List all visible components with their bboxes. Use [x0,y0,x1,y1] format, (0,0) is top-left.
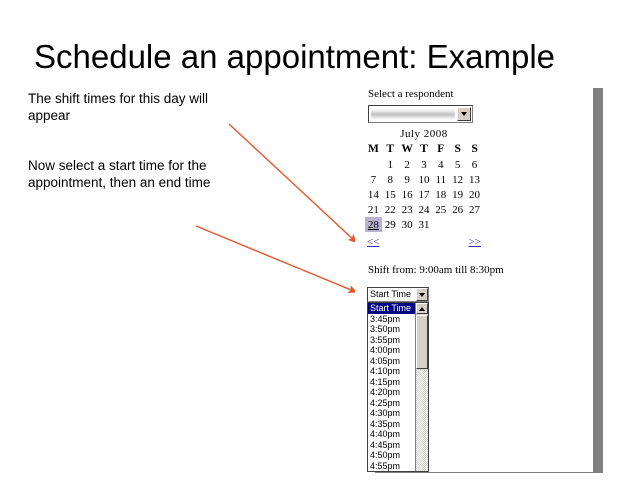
calendar-next-link[interactable]: >> [469,236,481,248]
list-item[interactable]: 4:35pm [368,419,415,430]
list-item[interactable]: 3:55pm [368,335,415,346]
calendar-week-row: 14 15 16 17 18 19 20 [365,187,483,202]
screenshot-shadow-right [593,88,603,473]
calendar-day[interactable]: 11 [432,172,449,187]
calendar-weekday: S [449,142,466,157]
respondent-select[interactable] [368,105,473,123]
listbox-scrollbar[interactable] [415,303,428,471]
calendar-week-row: 21 22 23 24 25 26 27 [365,202,483,217]
calendar-day[interactable]: 15 [382,187,399,202]
calendar-weekday: F [432,142,449,157]
calendar-day[interactable]: 27 [466,202,483,217]
calendar-day[interactable]: 25 [432,202,449,217]
calendar-day[interactable]: 8 [382,172,399,187]
page-title: Schedule an appointment: Example [34,38,614,76]
calendar-navigation: << >> [365,236,483,250]
calendar-day[interactable]: 4 [432,157,449,172]
calendar-weekday: T [416,142,433,157]
callout-shift-times: The shift times for this day will appear [28,90,243,124]
calendar-weekday: W [399,142,416,157]
calendar-day[interactable]: 26 [449,202,466,217]
list-item[interactable]: 4:45pm [368,440,415,451]
calendar-weekday: M [365,142,382,157]
start-time-options[interactable]: Start Time 3:45pm 3:50pm 3:55pm 4:00pm 4… [368,303,415,471]
list-item[interactable]: 4:00pm [368,345,415,356]
calendar-day[interactable]: 17 [416,187,433,202]
calendar-day[interactable]: 31 [416,217,433,232]
calendar-week-row: 1 2 3 4 5 6 [365,157,483,172]
respondent-selected-value [371,108,455,120]
calendar-day[interactable]: 9 [399,172,416,187]
calendar-prev-link[interactable]: << [367,236,379,248]
calendar-day [432,217,449,232]
calendar-day[interactable]: 13 [466,172,483,187]
calendar-day[interactable]: 2 [399,157,416,172]
calendar-day [449,217,466,232]
scrollbar-thumb[interactable] [416,315,428,369]
calendar-day[interactable]: 18 [432,187,449,202]
list-item[interactable]: 4:15pm [368,377,415,388]
calendar-weekday: T [382,142,399,157]
calendar-day-selected[interactable]: 28 [365,217,382,232]
arrow-to-start-time [196,226,356,292]
calendar-day[interactable]: 7 [365,172,382,187]
calendar-day[interactable]: 16 [399,187,416,202]
calendar-week-row: 28 29 30 31 [365,217,483,232]
arrow-to-calendar [229,124,356,242]
list-item[interactable]: 3:50pm [368,324,415,335]
calendar-month-label: July 2008 [365,128,483,142]
calendar-weekday-row: M T W T F S S [365,142,483,157]
calendar-day[interactable]: 6 [466,157,483,172]
calendar-day[interactable]: 5 [449,157,466,172]
start-time-selected-value: Start Time [368,288,416,301]
list-item[interactable]: 4:10pm [368,366,415,377]
calendar-week-row: 7 8 9 10 11 12 13 [365,172,483,187]
list-item[interactable]: 4:05pm [368,356,415,367]
list-item[interactable]: 4:40pm [368,429,415,440]
chevron-down-icon[interactable] [416,288,428,301]
respondent-label: Select a respondent [368,88,454,100]
slide: Schedule an appointment: Example The shi… [0,0,640,480]
start-time-option-list[interactable]: Start Time 3:45pm 3:50pm 3:55pm 4:00pm 4… [367,302,429,472]
calendar-weekday: S [466,142,483,157]
calendar-day[interactable] [365,157,382,172]
calendar-day[interactable]: 19 [449,187,466,202]
list-item[interactable]: 3:45pm [368,314,415,325]
start-time-select[interactable]: Start Time [367,287,429,302]
calendar-day[interactable]: 20 [466,187,483,202]
list-item[interactable]: 4:25pm [368,398,415,409]
calendar-day[interactable]: 12 [449,172,466,187]
calendar-day[interactable]: 10 [416,172,433,187]
embedded-app-screenshot: Select a respondent July 2008 M T W T F … [355,82,593,472]
chevron-down-icon[interactable] [457,107,471,121]
shift-hours-text: Shift from: 9:00am till 8:30pm [368,264,504,276]
calendar-day[interactable]: 1 [382,157,399,172]
chevron-up-icon[interactable] [416,303,428,314]
calendar-day[interactable]: 22 [382,202,399,217]
callout-select-start-time: Now select a start time for the appointm… [28,157,243,191]
scrollbar-track[interactable] [416,370,428,471]
list-item[interactable]: 4:30pm [368,408,415,419]
calendar-day[interactable]: 29 [382,217,399,232]
calendar-day[interactable]: 3 [416,157,433,172]
list-item[interactable]: 4:55pm [368,461,415,472]
calendar-grid: M T W T F S S 1 2 3 4 [365,142,483,232]
calendar-day[interactable]: 24 [416,202,433,217]
calendar-widget: July 2008 M T W T F S S [365,128,483,250]
calendar-day[interactable]: 23 [399,202,416,217]
calendar-day[interactable]: 30 [399,217,416,232]
calendar-day[interactable]: 14 [365,187,382,202]
calendar-day[interactable]: 21 [365,202,382,217]
calendar-day [466,217,483,232]
list-item[interactable]: 4:50pm [368,450,415,461]
list-item[interactable]: Start Time [368,303,415,314]
list-item[interactable]: 4:20pm [368,387,415,398]
